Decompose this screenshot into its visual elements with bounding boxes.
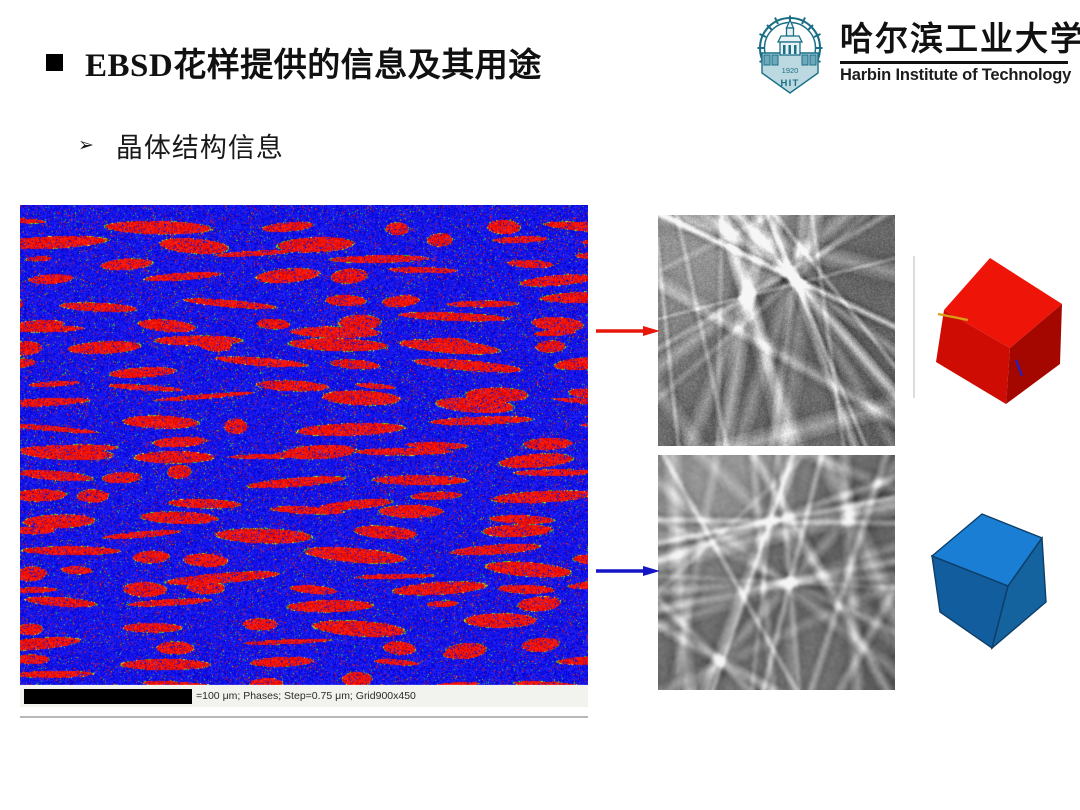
hit-logo-wordmark: 哈尔滨工业大学 Harbin Institute of Technology [840,23,1080,85]
slide-canvas: 1920 HIT 哈尔滨工业大学 Harbin Institute of Tec… [0,0,1080,810]
ebsd-map-caption: =100 μm; Phases; Step=0.75 μm; Grid900x4… [196,690,416,702]
hit-logo-rule [840,61,1068,64]
subtitle-label: 晶体结构信息 [116,126,284,165]
scale-bar-icon [24,689,192,704]
ebsd-phase-map-canvas [20,205,588,707]
arrow-to-pattern-2 [596,565,660,577]
kikuchi-pattern-phase-1-canvas [658,215,895,446]
square-bullet-icon [46,54,63,71]
hit-name-cn: 哈尔滨工业大学 [840,23,1080,59]
hit-shield-emblem-icon: 1920 HIT [748,11,832,97]
vertical-divider [913,256,915,398]
arrow-bullet-icon: ➢ [78,136,94,155]
hit-name-en: Harbin Institute of Technology [840,66,1080,85]
emblem-year-text: 1920 [782,66,799,75]
unit-cell-cube-red [928,252,1068,410]
emblem-abbr-text: HIT [781,78,800,89]
hit-logo: 1920 HIT 哈尔滨工业大学 Harbin Institute of Tec… [748,8,1074,100]
unit-cell-cube-blue [928,500,1068,660]
kikuchi-pattern-phase-2-canvas [658,455,895,690]
map-underline-divider [20,716,588,718]
slide-subtitle: ➢ 晶体结构信息 [78,126,284,165]
page-title: EBSD花样提供的信息及其用途 [85,38,542,86]
slide-title: EBSD花样提供的信息及其用途 [46,38,542,86]
ebsd-map-caption-bar: =100 μm; Phases; Step=0.75 μm; Grid900x4… [20,685,588,707]
kikuchi-pattern-phase-1 [658,215,895,446]
arrow-to-pattern-1 [596,325,660,337]
kikuchi-pattern-phase-2 [658,455,895,690]
ebsd-phase-map: =100 μm; Phases; Step=0.75 μm; Grid900x4… [20,205,588,707]
